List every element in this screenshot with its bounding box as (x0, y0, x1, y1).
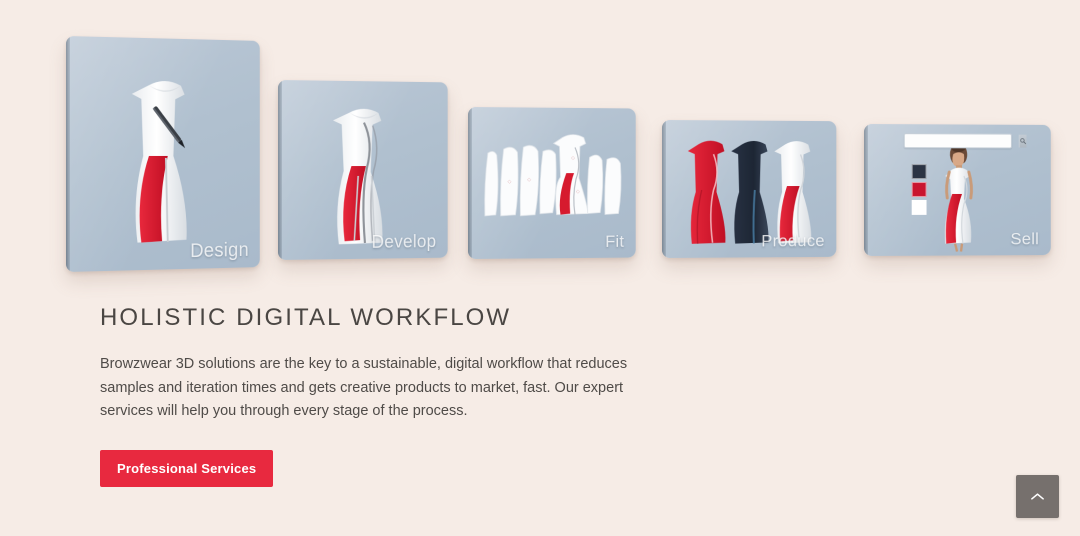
swatch-navy[interactable] (912, 164, 927, 179)
magnifier-icon[interactable] (1019, 135, 1027, 148)
scroll-to-top-button[interactable] (1016, 475, 1059, 518)
page-description: Browzwear 3D solutions are the key to a … (100, 353, 640, 423)
workflow-card-produce[interactable]: Produce (662, 120, 836, 258)
svg-text:◇: ◇ (571, 155, 575, 161)
page-root: Design Develop (0, 0, 1080, 536)
workflow-card-label: Develop (372, 231, 437, 252)
workflow-card-develop[interactable]: Develop (278, 80, 448, 260)
design-illustration (66, 36, 260, 272)
svg-text:◇: ◇ (576, 189, 580, 195)
professional-services-button[interactable]: Professional Services (100, 450, 273, 487)
search-input[interactable] (905, 134, 1019, 147)
shop-search-bar[interactable] (904, 133, 1012, 148)
content-block: HOLISTIC DIGITAL WORKFLOW Browzwear 3D s… (100, 305, 740, 487)
workflow-card-strip: Design Develop (0, 0, 1080, 290)
swatch-white[interactable] (912, 200, 927, 215)
color-swatch-list[interactable] (912, 164, 925, 218)
workflow-card-label: Produce (761, 231, 825, 251)
workflow-card-design[interactable]: Design (66, 36, 260, 272)
workflow-card-label: Fit (605, 232, 624, 252)
workflow-card-label: Design (190, 239, 249, 263)
workflow-card-fit[interactable]: ◇◇ ◇◇ Fit (468, 107, 636, 259)
workflow-card-sell[interactable]: Sell (864, 124, 1051, 256)
chevron-up-icon (1031, 489, 1044, 504)
swatch-red[interactable] (912, 182, 927, 197)
workflow-card-label: Sell (1010, 229, 1039, 249)
svg-text:◇: ◇ (527, 177, 531, 183)
svg-text:◇: ◇ (508, 179, 512, 185)
page-title: HOLISTIC DIGITAL WORKFLOW (100, 305, 740, 331)
